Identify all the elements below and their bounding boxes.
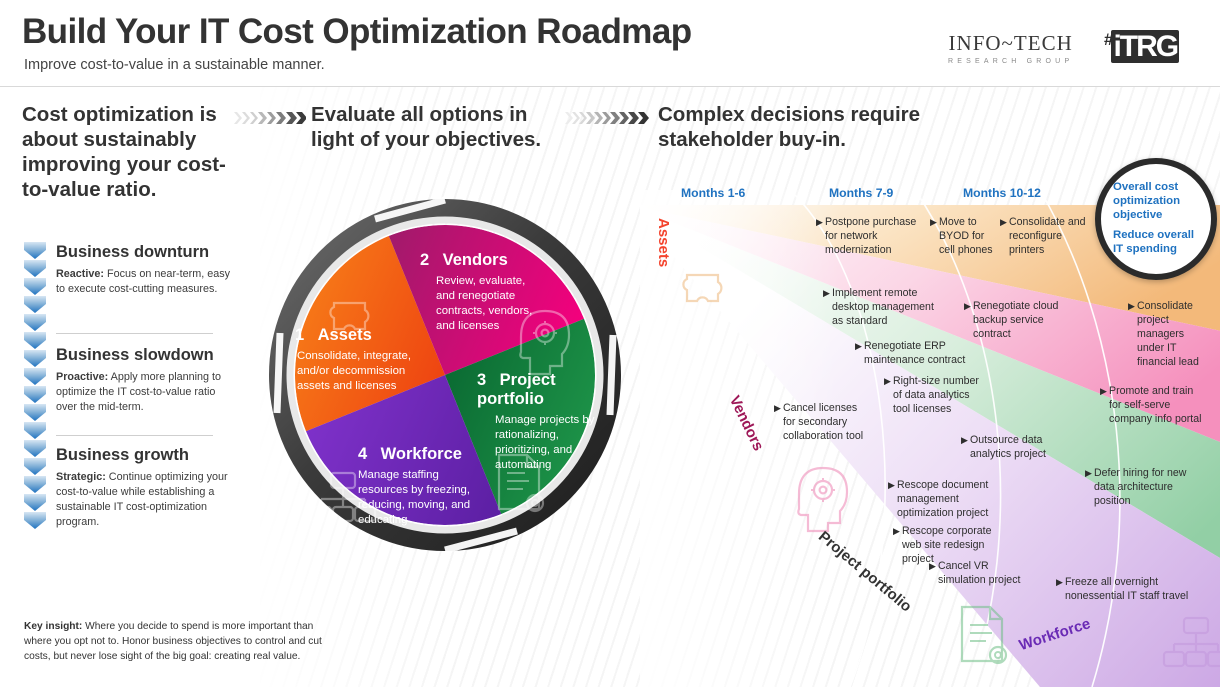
section-one-heading: Cost optimization is about sustainably i…	[22, 102, 237, 202]
bullet-arrow-icon: ▶	[929, 561, 936, 573]
chevron-divider-one-icon	[234, 110, 306, 126]
left-card-divider-two	[56, 435, 213, 436]
section-two-heading: Evaluate all options in light of your ob…	[311, 102, 561, 152]
wheel-segment-title: Vendors	[443, 251, 508, 269]
wheel-segment-number: 1	[295, 326, 304, 344]
bullet-arrow-icon: ▶	[1085, 468, 1092, 480]
wheel-segment-desc: Consolidate, integrate, and/or decommiss…	[297, 349, 440, 394]
roadmap-item-text: Cancel licenses for secondary collaborat…	[774, 402, 869, 444]
left-card-lead: Strategic:	[56, 471, 106, 483]
roadmap-item: ▶Move to BYOD for cell phones	[930, 216, 1000, 258]
wheel-segment-number: 3	[477, 371, 486, 389]
key-insight: Key insight: Where you decide to spend i…	[24, 620, 324, 664]
bullet-arrow-icon: ▶	[888, 480, 895, 492]
roadmap-item: ▶Freeze all overnight nonessential IT st…	[1056, 576, 1192, 604]
left-card-lead: Proactive:	[56, 371, 108, 383]
left-card-title: Business slowdown	[56, 346, 236, 365]
roadmap-item: ▶Promote and train for self-serve compan…	[1100, 385, 1208, 427]
left-card-title: Business growth	[56, 446, 236, 465]
infographic-page: Build Your IT Cost Optimization Roadmap …	[0, 0, 1220, 687]
info-tech-logo-name: INFO~TECH	[948, 31, 1073, 56]
roadmap-item-text: Move to BYOD for cell phones	[930, 216, 1000, 258]
roadmap-item: ▶Renegotiate ERP maintenance contract	[855, 340, 967, 368]
roadmap-item-text: Renegotiate ERP maintenance contract	[855, 340, 967, 368]
header-divider	[0, 86, 1220, 87]
left-card-title: Business downturn	[56, 243, 236, 262]
left-card-body: Proactive: Apply more planning to optimi…	[56, 370, 236, 415]
bullet-arrow-icon: ▶	[884, 376, 891, 388]
bullet-arrow-icon: ▶	[855, 341, 862, 353]
roadmap-item: ▶Defer hiring for new data architecture …	[1085, 467, 1190, 509]
overall-objective-circle: Overall cost optimization objective Redu…	[1095, 158, 1217, 280]
left-card-business-downturn: Business downturn Reactive: Focus on nea…	[56, 243, 236, 297]
roadmap-item-text: Promote and train for self-serve company…	[1100, 385, 1208, 427]
roadmap-row-label-assets: Assets	[655, 218, 672, 267]
wheel-segment-desc: Review, evaluate, and renegotiate contra…	[436, 274, 546, 335]
cost-optimization-wheel: 1 Assets Consolidate, integrate, and/or …	[255, 163, 635, 588]
itrg-logo: #iTRG	[1104, 30, 1179, 64]
roadmap-item-text: Right-size number of data analytics tool…	[884, 375, 984, 417]
roadmap-item-text: Renegotiate cloud backup service contrac…	[964, 300, 1062, 342]
gradient-arrow-column	[24, 242, 46, 547]
wheel-segment-desc: Manage staffing resources by freezing, r…	[358, 468, 478, 529]
roadmap-item-text: Rescope document management optimization…	[888, 479, 992, 521]
roadmap-item: ▶Implement remote desktop management as …	[823, 287, 945, 329]
bullet-arrow-icon: ▶	[1100, 386, 1107, 398]
bullet-arrow-icon: ▶	[964, 301, 971, 313]
roadmap-item-text: Defer hiring for new data architecture p…	[1085, 467, 1190, 509]
objective-label: Overall cost optimization objective	[1113, 181, 1199, 222]
page-subtitle: Improve cost-to-value in a sustainable m…	[24, 57, 325, 73]
bullet-arrow-icon: ▶	[1056, 577, 1063, 589]
roadmap-item-text: Postpone purchase for network modernizat…	[816, 216, 921, 258]
roadmap-item-text: Freeze all overnight nonessential IT sta…	[1056, 576, 1192, 604]
wheel-segment-title: Workforce	[381, 445, 462, 463]
chevron-divider-two-icon	[565, 110, 651, 126]
roadmap-item-text: Outsource data analytics project	[961, 434, 1053, 462]
roadmap-item: ▶Consolidate and reconfigure printers	[1000, 216, 1095, 258]
objective-value: Reduce overall IT spending	[1113, 229, 1199, 256]
left-card-lead: Reactive:	[56, 268, 104, 280]
wheel-segment-vendors: 2 Vendors Review, evaluate, and renegoti…	[420, 251, 575, 335]
roadmap-item: ▶Consolidate project managers under IT f…	[1128, 300, 1206, 370]
roadmap-item-text: Consolidate project managers under IT fi…	[1128, 300, 1206, 370]
roadmap-item-text: Implement remote desktop management as s…	[823, 287, 945, 329]
roadmap-item: ▶Right-size number of data analytics too…	[884, 375, 984, 417]
section-three-heading: Complex decisions require stakeholder bu…	[658, 102, 958, 152]
down-arrows-icon	[24, 242, 46, 542]
roadmap-item-text: Cancel VR simulation project	[929, 560, 1024, 588]
wheel-segment-title: Project portfolio	[477, 371, 556, 408]
bullet-arrow-icon: ▶	[816, 217, 823, 229]
month-header-2: Months 7-9	[829, 186, 893, 200]
roadmap-item: ▶Cancel VR simulation project	[929, 560, 1024, 588]
wheel-segment-project-portfolio: 3 Project portfolio Manage projects by r…	[477, 371, 607, 474]
wheel-segment-assets: 1 Assets Consolidate, integrate, and/or …	[295, 326, 440, 394]
bullet-arrow-icon: ▶	[961, 435, 968, 447]
roadmap-item: ▶Outsource data analytics project	[961, 434, 1053, 462]
left-card-business-growth: Business growth Strategic: Continue opti…	[56, 446, 236, 530]
month-header-3: Months 10-12	[963, 186, 1041, 200]
month-header-1: Months 1-6	[681, 186, 745, 200]
wheel-segment-number: 4	[358, 445, 367, 463]
bullet-arrow-icon: ▶	[930, 217, 937, 229]
left-card-divider-one	[56, 333, 213, 334]
info-tech-logo: INFO~TECH RESEARCH GROUP	[948, 31, 1073, 65]
wheel-segment-title: Assets	[318, 326, 372, 344]
bullet-arrow-icon: ▶	[774, 403, 781, 415]
left-card-body: Strategic: Continue optimizing your cost…	[56, 470, 236, 530]
wheel-segment-workforce: 4 Workforce Manage staffing resources by…	[310, 445, 470, 529]
roadmap-item: ▶Renegotiate cloud backup service contra…	[964, 300, 1062, 342]
left-card-body: Reactive: Focus on near-term, easy to ex…	[56, 267, 236, 297]
bullet-arrow-icon: ▶	[1128, 301, 1135, 313]
bullet-arrow-icon: ▶	[1000, 217, 1007, 229]
wheel-segment-number: 2	[420, 251, 429, 269]
itrg-text: iTRG	[1111, 30, 1179, 63]
info-tech-logo-tagline: RESEARCH GROUP	[948, 58, 1073, 65]
left-card-business-slowdown: Business slowdown Proactive: Apply more …	[56, 346, 236, 415]
roadmap-item: ▶Cancel licenses for secondary collabora…	[774, 402, 869, 444]
page-title: Build Your IT Cost Optimization Roadmap	[22, 12, 691, 52]
roadmap-item-text: Consolidate and reconfigure printers	[1000, 216, 1095, 258]
wheel-segment-desc: Manage projects by rationalizing, priori…	[495, 413, 607, 474]
roadmap-item: ▶Postpone purchase for network moderniza…	[816, 216, 921, 258]
bullet-arrow-icon: ▶	[893, 526, 900, 538]
roadmap-item: ▶Rescope document management optimizatio…	[888, 479, 992, 521]
key-insight-lead: Key insight:	[24, 621, 82, 632]
bullet-arrow-icon: ▶	[823, 288, 830, 300]
